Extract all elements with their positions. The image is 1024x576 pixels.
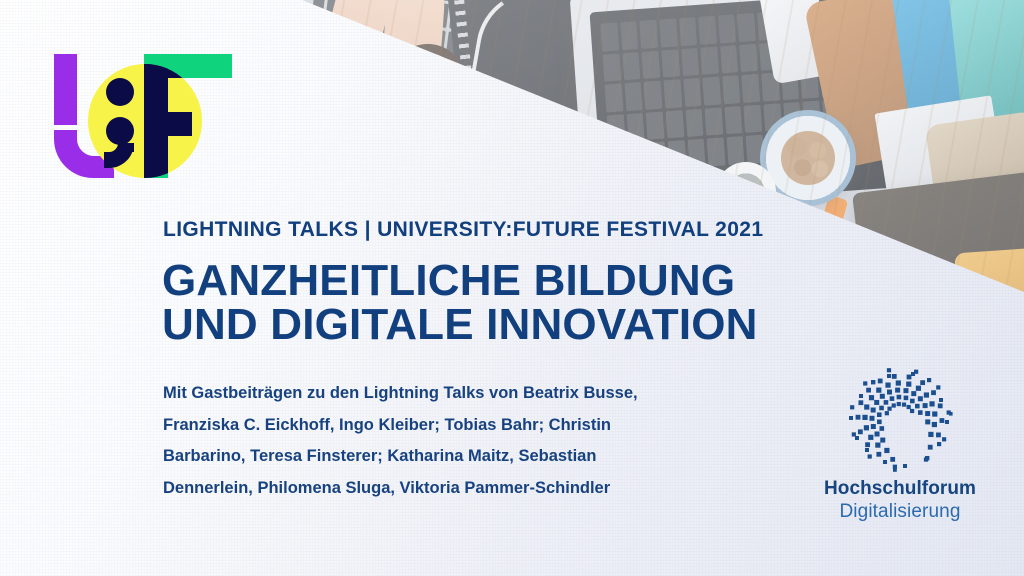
hfd-mark-square (897, 402, 901, 406)
paper-stack (874, 95, 1003, 192)
hfd-mark-square (916, 386, 921, 391)
hfd-mark-square (925, 419, 930, 424)
hfd-mark-square (897, 395, 902, 400)
hfd-mark-square (904, 396, 909, 401)
hfd-mark-square (910, 409, 914, 413)
hfd-mark-square (925, 456, 929, 460)
tan-pouch (925, 111, 1024, 208)
hfd-mark-square (890, 457, 895, 462)
hfd-mark-square (937, 442, 941, 446)
hfd-mark-square (850, 405, 854, 409)
hfd-mark-square (880, 438, 885, 443)
hfd-mark-square (877, 412, 882, 417)
hfd-mark-square (869, 395, 874, 400)
hfd-mark-square (883, 460, 887, 464)
hfd-mark-square (924, 392, 929, 397)
hfd-mark-square (927, 378, 931, 382)
uf-logo-u-stem (54, 54, 77, 125)
hfd-mark-square (871, 380, 875, 384)
hfd-mark-square (906, 382, 911, 387)
hfd-mark-square (875, 443, 880, 448)
hfd-mark-square (887, 374, 891, 378)
hfd-mark-square (858, 400, 863, 405)
uf-logo-colon-dot-top (106, 78, 134, 106)
hfd-mark-square (852, 432, 856, 436)
hfd-mark-square (892, 403, 896, 407)
hfd-mark-square (884, 400, 889, 405)
hfd-mark-square (859, 394, 863, 398)
hfd-mark-square (949, 412, 953, 416)
hfd-mark-square (875, 432, 880, 437)
hfd-mark-square (866, 388, 871, 393)
hfd-mark-square (870, 416, 875, 421)
hfd-mark-square (936, 385, 940, 389)
credits-line-2: Franziska C. Eickhoff, Ingo Kleiber; Tob… (163, 410, 763, 442)
hfd-mark-square (915, 404, 920, 409)
leather-pencil-case (803, 0, 924, 169)
credits-line-1: Mit Gastbeiträgen zu den Lightning Talks… (163, 378, 763, 410)
hfd-mark-square (876, 388, 881, 393)
hfd-mark-square (932, 422, 937, 427)
blue-book (891, 0, 1013, 127)
credits-line-4: Dennerlein, Philomena Sluga, Viktoria Pa… (163, 473, 763, 505)
hfd-mark-square (928, 445, 933, 450)
hfd-mark-square (864, 425, 869, 430)
hfd-wordmark: Hochschulforum Digitalisierung (812, 478, 988, 523)
hfd-mark-square (942, 437, 946, 441)
hfd-mark-square (936, 433, 941, 438)
hfd-mark-square (876, 452, 881, 457)
hfd-mark-square (903, 464, 907, 468)
university-future-festival-logo (52, 52, 234, 180)
white-phone (758, 0, 832, 84)
hfd-line-1: Hochschulforum (812, 478, 988, 500)
hfd-mark-square (864, 404, 869, 409)
slide-credits: Mit Gastbeiträgen zu den Lightning Talks… (163, 378, 763, 505)
hfd-mosaic-mark (841, 368, 959, 472)
hfd-mark-square (877, 420, 882, 425)
hfd-mark-square (885, 383, 890, 388)
slide-headline: GANZHEITLICHE BILDUNG UND DIGITALE INNOV… (162, 259, 758, 346)
hfd-mark-square (880, 426, 885, 431)
hfd-mark-square (929, 401, 934, 406)
headline-line-2: UND DIGITALE INNOVATION (162, 303, 758, 347)
headline-line-1: GANZHEITLICHE BILDUNG (162, 259, 758, 303)
hfd-mark-square (893, 468, 897, 472)
hfd-mark-square (940, 418, 945, 423)
teal-book (948, 0, 1024, 120)
hfd-mark-square (880, 394, 885, 399)
hfd-mark-square (923, 403, 928, 408)
hfd-mark-square (871, 408, 876, 413)
hfd-mark-square (855, 436, 859, 440)
hfd-mark-square (907, 375, 912, 380)
hochschulforum-digitalisierung-logo: Hochschulforum Digitalisierung (812, 368, 988, 526)
hfd-mark-square (896, 380, 901, 385)
hfd-mark-square (892, 374, 897, 379)
hfd-mark-square (910, 399, 915, 404)
hfd-mark-square (878, 379, 883, 384)
hfd-mark-square (911, 391, 916, 396)
hfd-mark-square (858, 429, 863, 434)
hfd-mark-square (879, 406, 884, 411)
hfd-mark-square (885, 411, 889, 415)
hfd-mark-square (865, 448, 869, 452)
hfd-mark-square (890, 396, 895, 401)
hfd-mark-square (868, 435, 873, 440)
hfd-mark-square (932, 411, 937, 416)
hfd-mark-square (928, 432, 933, 437)
uf-logo-colon-dot-bottom (106, 117, 134, 145)
hfd-mark-square (925, 411, 930, 416)
hfd-mark-square (865, 442, 870, 447)
presentation-slide: LIGHTNING TALKS | UNIVERSITY:FUTURE FEST… (0, 0, 1024, 576)
hfd-mark-square (868, 454, 872, 458)
hfd-mark-square (931, 390, 936, 395)
hfd-mark-square (874, 400, 879, 405)
hfd-mark-square (918, 410, 923, 415)
hfd-mark-square (903, 388, 908, 393)
hfd-mark-square (911, 372, 915, 376)
hfd-mark-square (902, 402, 906, 406)
credits-line-3: Barbarino, Teresa Finsterer; Katharina M… (163, 441, 763, 473)
hfd-mark-square (907, 405, 911, 409)
hfd-mark-square (895, 388, 900, 393)
hfd-mark-square (939, 398, 943, 402)
slide-eyebrow: LIGHTNING TALKS | UNIVERSITY:FUTURE FEST… (163, 218, 763, 242)
hfd-mark-square (945, 420, 949, 424)
hfd-mark-square (887, 390, 892, 395)
hfd-line-2: Digitalisierung (812, 501, 988, 523)
hfd-mark-square (871, 424, 876, 429)
hfd-mark-square (887, 368, 891, 372)
hfd-mark-square (938, 403, 943, 408)
hfd-mark-square (920, 380, 925, 385)
hfd-mark-square (849, 416, 853, 420)
hfd-mark-square (856, 415, 861, 420)
hfd-mark-square (863, 381, 867, 385)
hfd-mark-square (918, 396, 923, 401)
hfd-mark-square (862, 415, 867, 420)
hfd-mark-square (884, 448, 889, 453)
hfd-mark-square (887, 407, 891, 411)
